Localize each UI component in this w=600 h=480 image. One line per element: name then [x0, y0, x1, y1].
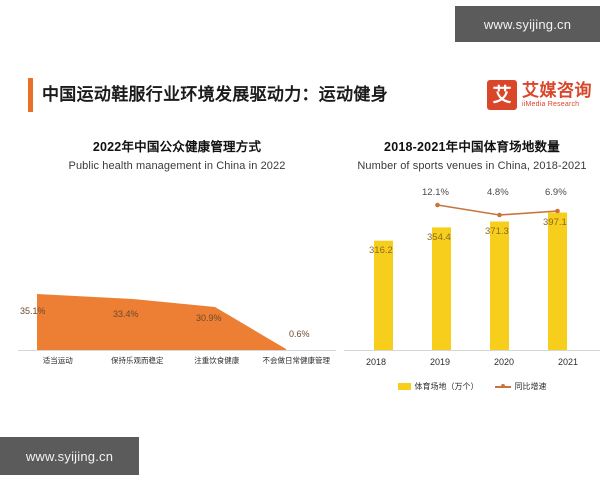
left-chart-category-axis: 适当运动 保持乐观而稳定 注重饮食健康 不会做日常健康管理: [18, 355, 336, 366]
area-category-label-2: 注重饮食健康: [177, 355, 257, 366]
area-category-label-0: 适当运动: [18, 355, 98, 366]
legend-label-venues: 体育场地（万个）: [415, 381, 479, 392]
left-chart-subtitle: Public health management in China in 202…: [18, 158, 336, 175]
logo-text: 艾媒咨询 iiMedia Research: [522, 82, 592, 109]
bar-value-label-2021: 397.1: [543, 217, 567, 228]
growth-value-label-2019: 12.1%: [422, 187, 449, 198]
logo-name-en: iiMedia Research: [522, 100, 592, 109]
legend-item-venues: 体育场地（万个）: [398, 381, 479, 392]
legend-item-growth: 同比增速: [495, 381, 547, 392]
area-series-polygon: [37, 294, 286, 350]
left-chart-title: 2022年中国公众健康管理方式: [18, 138, 336, 156]
bar-2018: [374, 241, 393, 350]
area-category-label-3: 不会做日常健康管理: [257, 355, 337, 366]
left-chart-plot: 35.1% 33.4% 30.9% 0.6% 适当运动 保持乐观而稳定 注重饮食…: [18, 185, 336, 385]
title-accent-bar: [28, 78, 33, 112]
right-chart-title: 2018-2021年中国体育场地数量: [344, 138, 600, 156]
growth-point-2019: [435, 203, 440, 208]
bar-category-label-2: 2020: [472, 357, 536, 367]
area-value-label-1: 33.4%: [113, 309, 139, 319]
imedia-logo: 艾 艾媒咨询 iiMedia Research: [487, 78, 592, 112]
logo-mark-icon: 艾: [487, 80, 517, 110]
area-category-label-1: 保持乐观而稳定: [98, 355, 178, 366]
bar-2019: [432, 227, 451, 350]
watermark-top: www.syijing.cn: [455, 6, 600, 42]
bar-category-label-1: 2019: [408, 357, 472, 367]
bar-2020: [490, 222, 509, 351]
growth-point-2021: [555, 209, 560, 214]
bar-value-label-2020: 371.3: [485, 226, 509, 237]
area-value-label-2: 30.9%: [196, 313, 222, 323]
bar-value-label-2018: 316.2: [369, 245, 393, 256]
legend-bar-swatch-icon: [398, 383, 411, 390]
right-chart-plot: 316.2 354.4 371.3 397.1 12.1% 4.8% 6.9% …: [344, 185, 600, 385]
watermark-bottom: www.syijing.cn: [0, 437, 139, 475]
bar-value-label-2019: 354.4: [427, 232, 451, 243]
area-value-label-0: 35.1%: [20, 306, 46, 316]
logo-name-cn: 艾媒咨询: [522, 82, 592, 100]
bar-category-label-3: 2021: [536, 357, 600, 367]
growth-value-label-2021: 6.9%: [545, 187, 567, 198]
legend-label-growth: 同比增速: [515, 381, 547, 392]
right-chart-subtitle: Number of sports venues in China, 2018-2…: [344, 158, 600, 175]
growth-value-label-2020: 4.8%: [487, 187, 509, 198]
page-title: 中国运动鞋服行业环境发展驱动力：运动健身: [42, 78, 388, 112]
chart-panel-sports-venues: 2018-2021年中国体育场地数量 Number of sports venu…: [344, 138, 600, 398]
growth-point-2020: [497, 213, 502, 218]
bar-category-label-0: 2018: [344, 357, 408, 367]
growth-line-series: [438, 205, 558, 215]
area-value-label-3: 0.6%: [289, 329, 310, 339]
bar-line-chart-svg: [344, 185, 600, 385]
watermark-top-text: www.syijing.cn: [484, 17, 571, 32]
bar-2021: [548, 213, 567, 351]
watermark-bottom-text: www.syijing.cn: [26, 449, 113, 464]
right-chart-legend: 体育场地（万个） 同比增速: [344, 381, 600, 392]
legend-line-swatch-icon: [495, 383, 511, 390]
right-chart-category-axis: 2018 2019 2020 2021: [344, 357, 600, 367]
chart-panel-health-management: 2022年中国公众健康管理方式 Public health management…: [18, 138, 336, 398]
